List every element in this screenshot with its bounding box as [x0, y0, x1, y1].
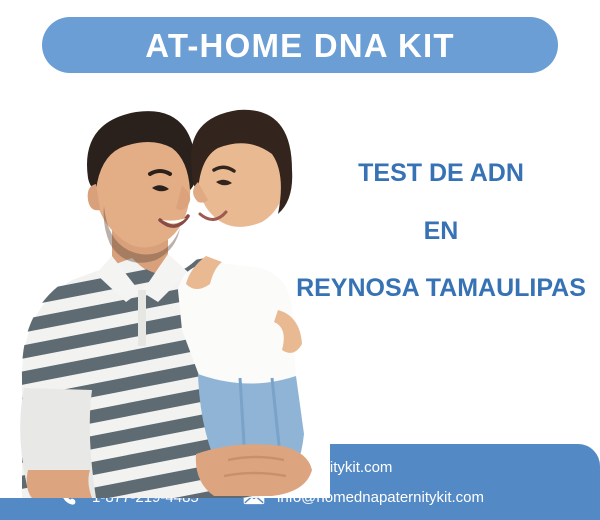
headline-line-2: EN [288, 218, 594, 246]
header-pill-banner: AT-HOME DNA KIT [42, 17, 558, 73]
page-title: AT-HOME DNA KIT [145, 29, 454, 62]
headline-line-3: REYNOSA TAMAULIPAS [288, 275, 594, 303]
poster-canvas: AT-HOME DNA KIT [0, 0, 600, 520]
headline-line-1: TEST DE ADN [288, 160, 594, 188]
headline-block: TEST DE ADN EN REYNOSA TAMAULIPAS [288, 160, 594, 303]
father-and-child-illustration [0, 78, 330, 498]
family-photo [0, 78, 330, 498]
